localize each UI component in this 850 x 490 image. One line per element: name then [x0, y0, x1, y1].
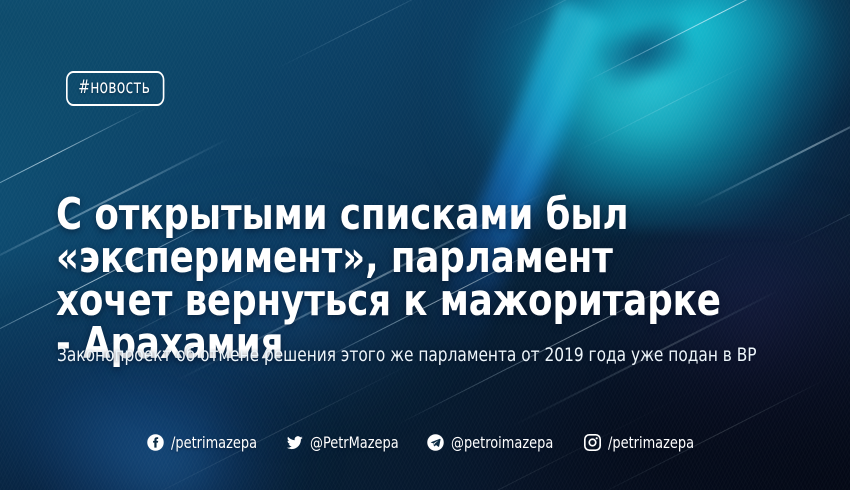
social-link-telegram[interactable]: @petroimazepa	[426, 433, 565, 452]
social-link-facebook[interactable]: /petrimazepa	[146, 433, 267, 452]
social-links-bar: /petrimazepa @PetrMazepa @petroimazepa	[0, 433, 850, 452]
social-handle-telegram: @petroimazepa	[451, 434, 553, 452]
instagram-icon	[583, 433, 602, 452]
social-link-twitter[interactable]: @PetrMazepa	[285, 433, 409, 452]
card-content: #новость С открытыми списками был «экспе…	[0, 0, 850, 490]
social-handle-instagram: /petrimazepa	[608, 434, 694, 452]
social-handle-twitter: @PetrMazepa	[310, 434, 399, 452]
facebook-icon	[146, 433, 165, 452]
category-badge[interactable]: #новость	[66, 71, 164, 106]
social-link-instagram[interactable]: /petrimazepa	[583, 433, 704, 452]
news-card: #новость С открытыми списками был «экспе…	[0, 0, 850, 490]
twitter-icon	[285, 433, 304, 452]
page-subtitle: Законопроект об отмене решения этого же …	[57, 344, 795, 366]
page-title: С открытыми списками был «эксперимент», …	[56, 193, 722, 365]
telegram-icon	[426, 433, 445, 452]
social-handle-facebook: /petrimazepa	[171, 434, 257, 452]
